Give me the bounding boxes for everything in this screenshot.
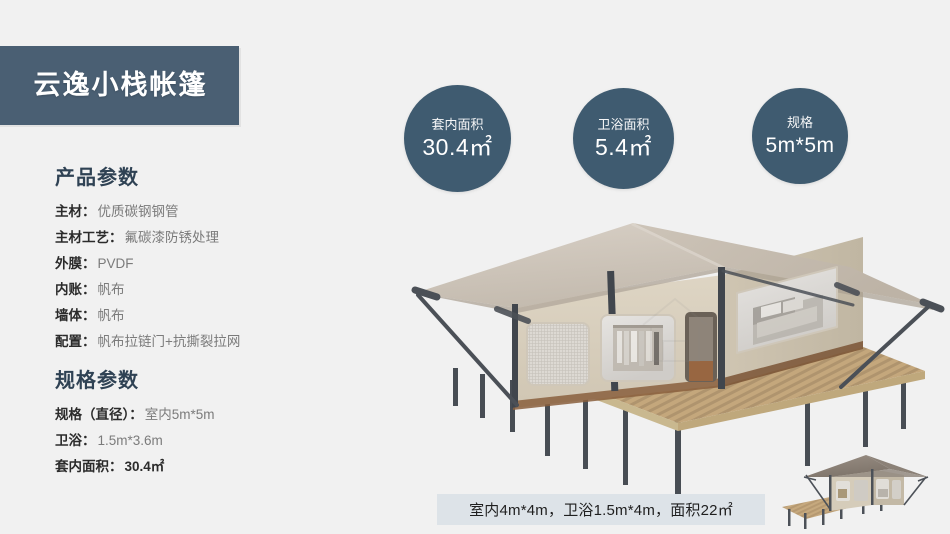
spec-row-configuration: 配置：帆布拉链门+抗撕裂拉网 [0,329,360,355]
spec-row-bathroom: 卫浴：1.5m*3.6m [0,428,360,454]
badge-label: 规格 [787,115,813,131]
product-parameters-list: 主材：优质碳钢钢管 主材工艺：氟碳漆防锈处理 外膜：PVDF 内账：帆布 墙体：… [0,199,360,355]
spec-label: 内账： [55,282,96,297]
product-parameters-heading: 产品参数 [0,165,360,191]
spec-label: 主材： [55,204,96,219]
safari-tent-thumbnail [768,447,946,532]
spec-row-outer-membrane: 外膜：PVDF [0,251,360,277]
page-title: 云逸小栈帐篷 [26,72,208,99]
spec-row-dimension: 规格（直径）：室内5m*5m [0,402,360,428]
spec-value: 帆布 [96,282,125,297]
spec-row-main-material: 主材：优质碳钢钢管 [0,199,360,225]
badge-label: 卫浴面积 [597,117,649,133]
spec-value: 氟碳漆防锈处理 [123,230,220,245]
spec-label: 套内面积： [55,459,123,474]
spec-value: 帆布 [96,308,125,323]
spec-value: 1.5m*3.6m [96,433,163,448]
spec-value: PVDF [96,256,134,271]
badge-dimensions: 规格 5m*5m [752,88,848,184]
badge-value: 5m*5m [765,134,834,157]
badge-value: 5.4㎡ [595,135,652,160]
spec-label: 规格（直径）： [55,407,143,422]
spec-row-inner-tent: 内账：帆布 [0,277,360,303]
spec-row-wall: 墙体：帆布 [0,303,360,329]
spec-value: 30.4㎡ [123,459,165,474]
spec-label: 墙体： [55,308,96,323]
caption-text: 室内4m*4m，卫浴1.5m*4m，面积22㎡ [469,499,733,520]
caption-bar: 室内4m*4m，卫浴1.5m*4m，面积22㎡ [437,494,765,525]
spec-row-material-process: 主材工艺：氟碳漆防锈处理 [0,225,360,251]
page-root: 云逸小栈帐篷 产品参数 主材：优质碳钢钢管 主材工艺：氟碳漆防锈处理 外膜：PV… [0,0,950,534]
size-parameters-list: 规格（直径）：室内5m*5m 卫浴：1.5m*3.6m 套内面积：30.4㎡ [0,402,360,480]
badge-value: 30.4㎡ [422,135,492,160]
spec-row-interior-area: 套内面积：30.4㎡ [0,454,360,480]
spec-value: 优质碳钢钢管 [96,204,179,219]
spec-label: 主材工艺： [55,230,123,245]
spec-value: 帆布拉链门+抗撕裂拉网 [96,334,241,349]
spec-value: 室内5m*5m [143,407,215,422]
badge-label: 套内面积 [431,117,483,133]
product-parameters-section: 产品参数 主材：优质碳钢钢管 主材工艺：氟碳漆防锈处理 外膜：PVDF 内账：帆… [0,165,360,355]
tent-windows-front [527,312,717,385]
spec-label: 卫浴： [55,433,96,448]
size-parameters-section: 规格参数 规格（直径）：室内5m*5m 卫浴：1.5m*3.6m 套内面积：30… [0,368,360,480]
title-banner: 云逸小栈帐篷 [0,46,239,125]
spec-label: 配置： [55,334,96,349]
spec-label: 外膜： [55,256,96,271]
size-parameters-heading: 规格参数 [0,368,360,394]
badge-bathroom-area: 卫浴面积 5.4㎡ [573,88,674,189]
